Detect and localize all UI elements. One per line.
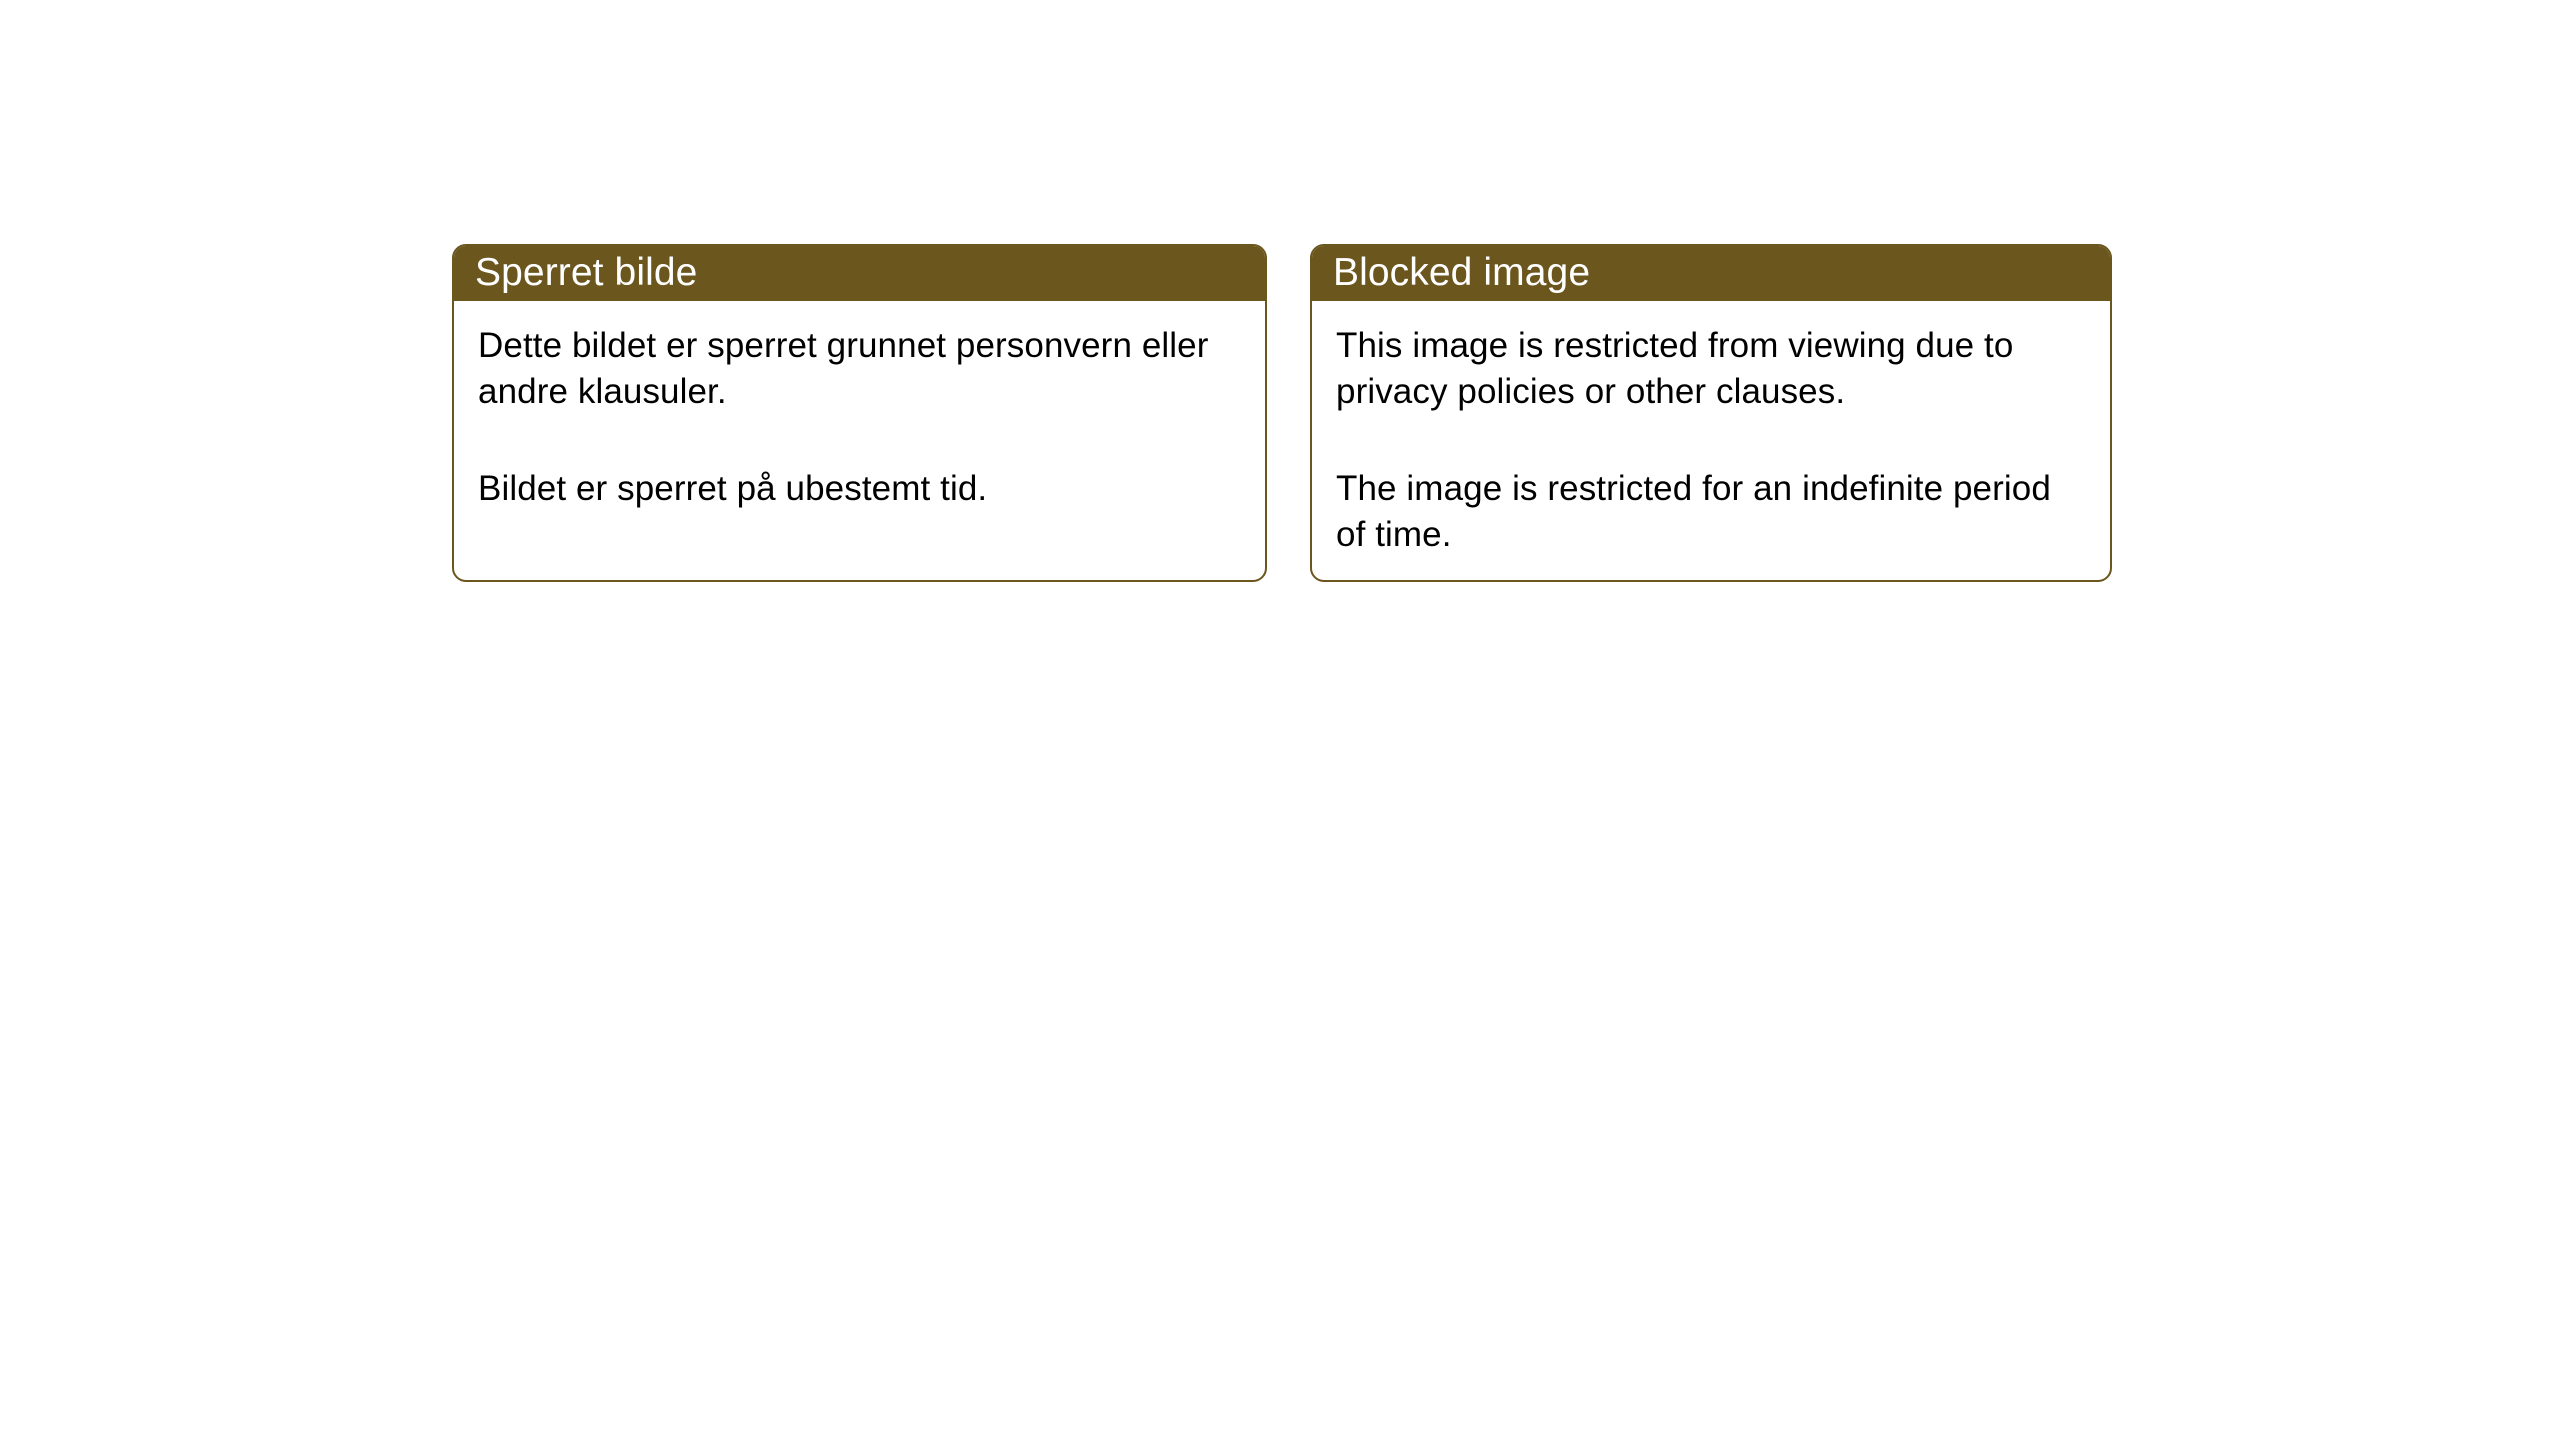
card-header-english: Blocked image bbox=[1310, 244, 2112, 301]
card-paragraph-secondary-english: The image is restricted for an indefinit… bbox=[1336, 466, 2086, 557]
card-body-english: This image is restricted from viewing du… bbox=[1312, 301, 2110, 580]
card-paragraph-secondary-norwegian: Bildet er sperret på ubestemt tid. bbox=[478, 466, 1241, 512]
card-paragraph-primary-english: This image is restricted from viewing du… bbox=[1336, 323, 2086, 414]
card-paragraph-primary-norwegian: Dette bildet er sperret grunnet personve… bbox=[478, 323, 1241, 414]
card-title-norwegian: Sperret bilde bbox=[475, 253, 697, 292]
card-body-norwegian: Dette bildet er sperret grunnet personve… bbox=[454, 301, 1265, 580]
card-header-norwegian: Sperret bilde bbox=[452, 244, 1267, 301]
blocked-image-card-norwegian: Sperret bilde Dette bildet er sperret gr… bbox=[452, 244, 1267, 582]
blocked-image-card-english: Blocked image This image is restricted f… bbox=[1310, 244, 2112, 582]
card-title-english: Blocked image bbox=[1333, 253, 1590, 292]
blocked-image-notices: Sperret bilde Dette bildet er sperret gr… bbox=[452, 244, 2112, 582]
